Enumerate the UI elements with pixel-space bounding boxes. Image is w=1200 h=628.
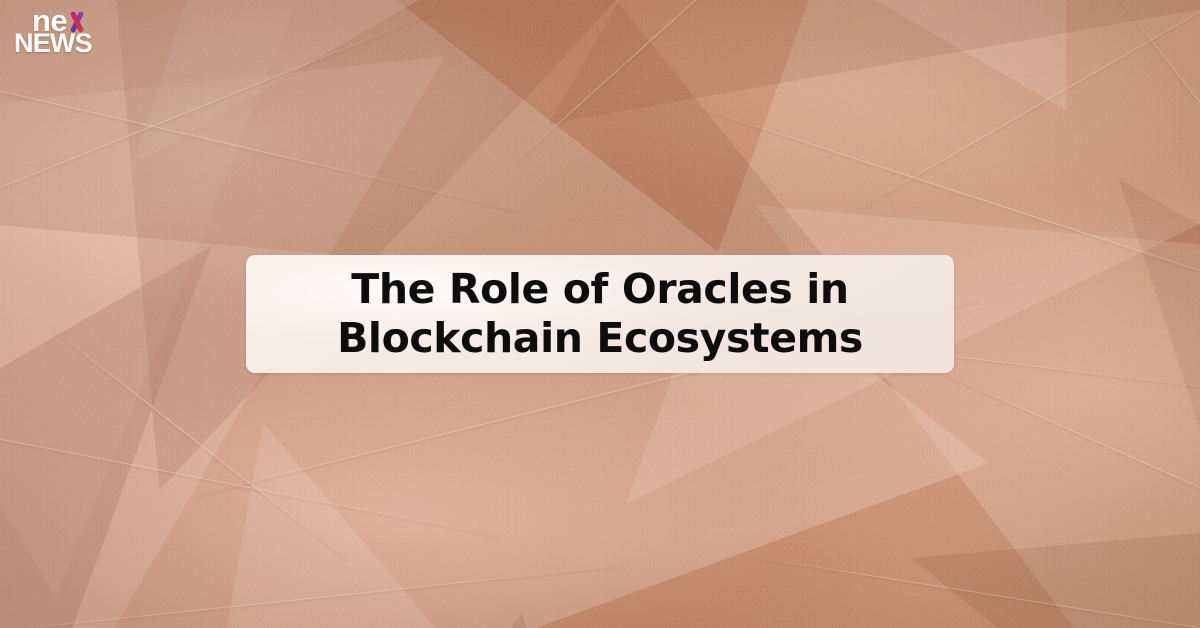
nexnews-logo[interactable]: ne NEWS	[10, 5, 106, 59]
article-share-banner: ne NEWS The Role of Oracles in Blockchai…	[0, 0, 1200, 628]
article-title-card: The Role of Oracles in Blockchain Ecosys…	[246, 255, 954, 373]
logo-wordmark-news: NEWS	[14, 30, 92, 57]
article-title: The Role of Oracles in Blockchain Ecosys…	[246, 265, 954, 363]
